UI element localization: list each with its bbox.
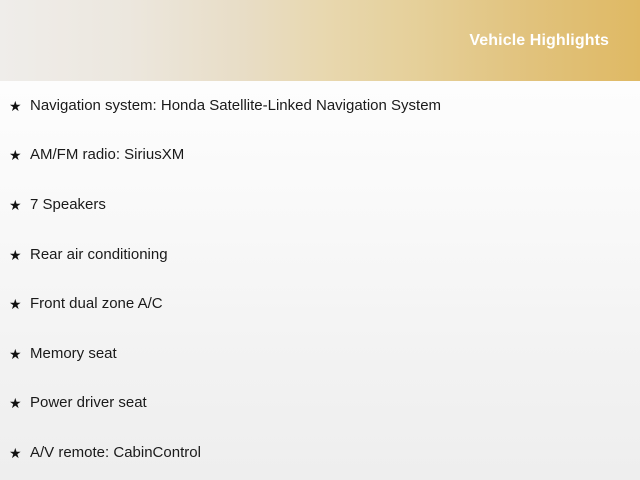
star-icon: ★ — [9, 248, 30, 262]
star-icon: ★ — [9, 148, 30, 162]
list-item: ★ Navigation system: Honda Satellite-Lin… — [0, 81, 640, 131]
list-item-label: Navigation system: Honda Satellite-Linke… — [30, 97, 640, 115]
vehicle-highlights-list: ★ Navigation system: Honda Satellite-Lin… — [0, 81, 640, 480]
list-item: ★ Memory seat — [0, 329, 640, 379]
list-item: ★ AM/FM radio: SiriusXM — [0, 131, 640, 181]
star-icon: ★ — [9, 446, 30, 460]
list-item: ★ A/V remote: CabinControl — [0, 428, 640, 478]
list-item: ★ Power driver seat — [0, 379, 640, 429]
list-item: ★ Rear air conditioning — [0, 230, 640, 280]
list-item-label: Power driver seat — [30, 394, 640, 412]
list-item: ★ Front dual zone A/C — [0, 279, 640, 329]
list-item-label: AM/FM radio: SiriusXM — [30, 146, 640, 164]
vehicle-highlights-panel: Vehicle Highlights ★ Navigation system: … — [0, 0, 640, 480]
star-icon: ★ — [9, 297, 30, 311]
list-item-label: A/V remote: CabinControl — [30, 444, 640, 462]
list-item-label: 7 Speakers — [30, 196, 640, 214]
list-item-label: Memory seat — [30, 345, 640, 363]
list-item-label: Front dual zone A/C — [30, 295, 640, 313]
star-icon: ★ — [9, 347, 30, 361]
star-icon: ★ — [9, 198, 30, 212]
list-item: ★ 7 Speakers — [0, 180, 640, 230]
star-icon: ★ — [9, 396, 30, 410]
panel-header: Vehicle Highlights — [0, 0, 640, 81]
list-item-label: Rear air conditioning — [30, 246, 640, 264]
star-icon: ★ — [9, 99, 30, 113]
page-title: Vehicle Highlights — [469, 33, 640, 49]
